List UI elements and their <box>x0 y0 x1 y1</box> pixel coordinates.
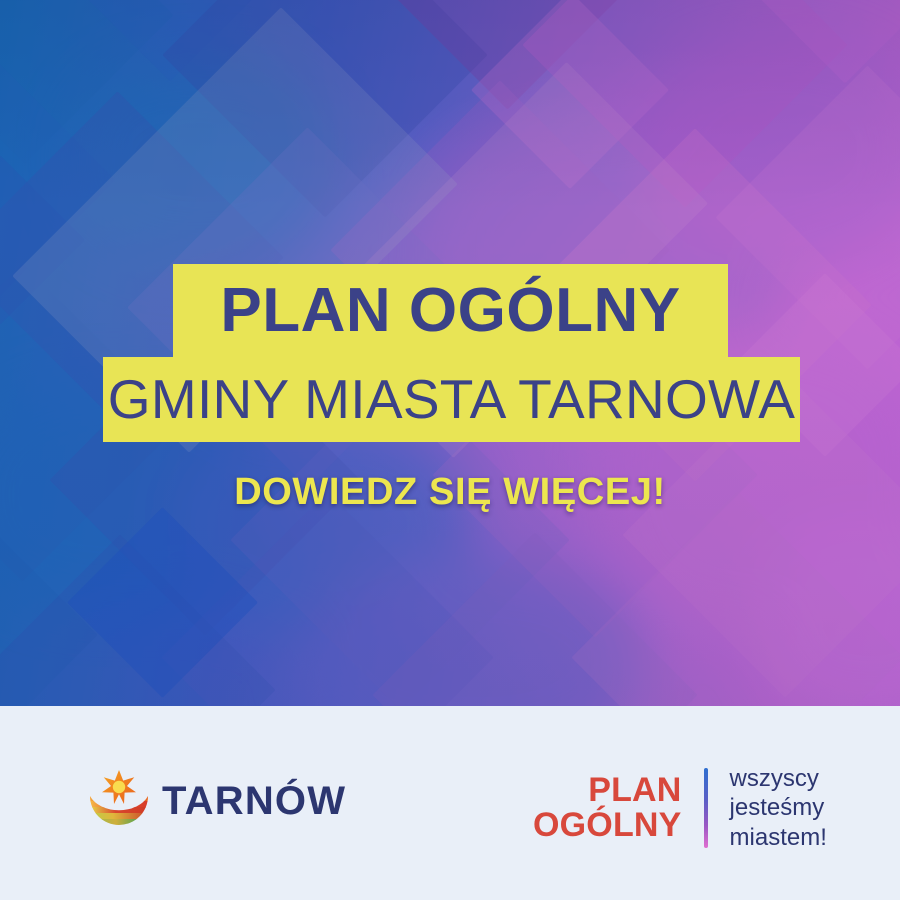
tarnow-city-logo[interactable]: TARNÓW <box>88 768 346 834</box>
plan-ogolny-word-bottom: OGÓLNY <box>533 808 682 843</box>
plan-ogolny-campaign-logo[interactable]: PLAN OGÓLNY wszyscy jesteśmy miastem! <box>533 764 827 852</box>
headline-secondary-banner: GMINY MIASTA TARNOWA <box>103 357 800 442</box>
plan-ogolny-wordmark: PLAN OGÓLNY <box>533 773 704 842</box>
tarnow-sun-crescent-icon <box>88 768 150 834</box>
poster: PLAN OGÓLNY GMINY MIASTA TARNOWA DOWIEDZ… <box>0 0 900 900</box>
campaign-tagline-line-3: miastem! <box>730 823 827 852</box>
tarnow-wordmark: TARNÓW <box>162 781 346 821</box>
call-to-action-subheadline: DOWIEDZ SIĘ WIĘCEJ! <box>0 471 900 514</box>
hero-banner: PLAN OGÓLNY GMINY MIASTA TARNOWA DOWIEDZ… <box>0 0 900 706</box>
campaign-tagline-line-2: jesteśmy <box>730 793 827 822</box>
headline-primary-banner: PLAN OGÓLNY <box>173 264 728 357</box>
campaign-tagline: wszyscy jesteśmy miastem! <box>708 764 827 852</box>
plan-ogolny-word-top: PLAN <box>533 773 682 808</box>
campaign-tagline-line-1: wszyscy <box>730 764 827 793</box>
